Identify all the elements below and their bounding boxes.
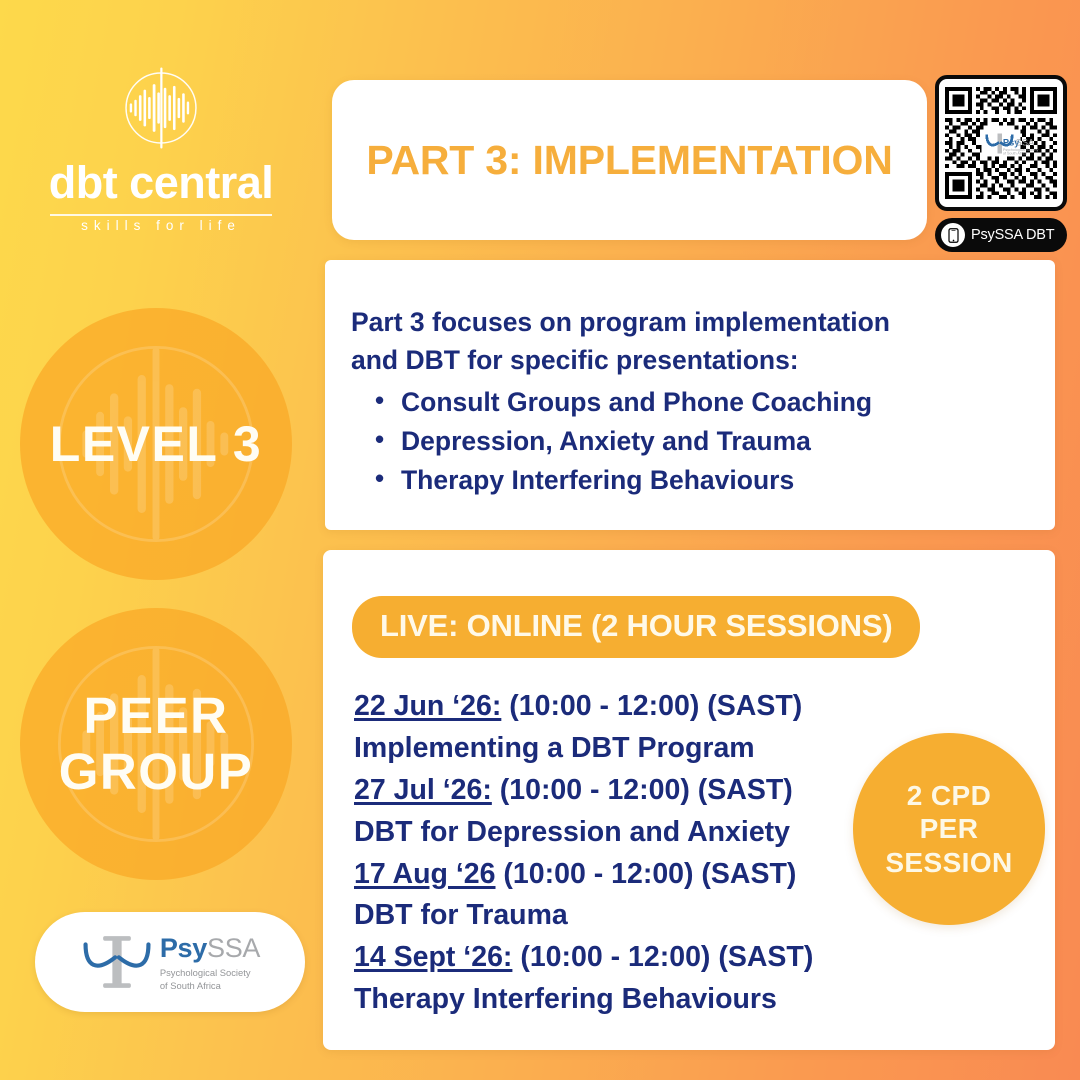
peer-group-badge-label: PEER GROUP (59, 688, 254, 800)
qr-pill-label: PsySSA DBT (971, 227, 1054, 243)
session-date: 17 Aug ‘26 (354, 858, 496, 890)
description-lead-line2: and DBT for specific presentations: (351, 342, 1027, 380)
level-badge: LEVEL 3 (20, 308, 292, 580)
cpd-badge: 2 CPD PER SESSION (853, 733, 1045, 925)
session-date-row: 14 Sept ‘26: (10:00 - 12:00) (SAST) (354, 937, 1055, 979)
title-card: PART 3: IMPLEMENTATION (332, 80, 927, 240)
waveform-circle-icon (115, 62, 207, 154)
session-date: 22 Jun ‘26: (354, 690, 501, 722)
list-item: Therapy Interfering Behaviours (351, 461, 1027, 500)
peer-line-1: PEER (84, 687, 229, 744)
cpd-line-3: SESSION (885, 847, 1012, 878)
psyssa-tagline: Psychological Society of South Africa (160, 967, 260, 992)
cpd-line-1: 2 CPD (907, 780, 991, 811)
brand-tagline: skills for life (18, 218, 304, 233)
session-time: (10:00 - 12:00) (SAST) (492, 774, 793, 806)
description-lead: Part 3 focuses on program implementation (351, 304, 1027, 342)
session-time: (10:00 - 12:00) (SAST) (512, 941, 813, 973)
session-date: 27 Jul ‘26: (354, 774, 492, 806)
description-bullet-list: Consult Groups and Phone Coaching Depres… (351, 383, 1027, 499)
description-lead-line1: Part 3 focuses on program implementation (351, 304, 1027, 342)
svg-text:of South Africa: of South Africa (1003, 152, 1028, 156)
description-lead-2: and DBT for specific presentations: (351, 342, 1027, 380)
description-card: Part 3 focuses on program implementation… (325, 260, 1055, 530)
qr-app-label-pill[interactable]: PsySSA DBT (935, 218, 1067, 252)
svg-text:SSA: SSA (1016, 137, 1035, 147)
list-item: Consult Groups and Phone Coaching (351, 383, 1027, 422)
cpd-line-2: PER (920, 813, 979, 844)
list-item: Depression, Anxiety and Trauma (351, 422, 1027, 461)
brand-divider (50, 214, 272, 216)
brand-logo: dbt central skills for life (18, 62, 304, 232)
peer-line-2: GROUP (59, 743, 254, 800)
peer-group-badge: PEER GROUP (20, 608, 292, 880)
level-badge-label: LEVEL 3 (50, 418, 262, 471)
qr-code-frame[interactable]: Psy SSA Psychological Society of South A… (935, 75, 1067, 211)
psyssa-name-bold: Psy (160, 933, 207, 963)
session-date: 14 Sept ‘26: (354, 941, 512, 973)
session-date-row: 22 Jun ‘26: (10:00 - 12:00) (SAST) (354, 686, 1055, 728)
session-time: (10:00 - 12:00) (SAST) (501, 690, 802, 722)
cpd-badge-label: 2 CPD PER SESSION (885, 779, 1012, 878)
mobile-phone-icon (941, 223, 965, 247)
qr-block[interactable]: Psy SSA Psychological Society of South A… (935, 75, 1067, 255)
psyssa-tagline-line2: of South Africa (160, 980, 221, 991)
qr-code-icon[interactable]: Psy SSA Psychological Society of South A… (945, 87, 1057, 199)
session-topic: Therapy Interfering Behaviours (354, 979, 1055, 1021)
psyssa-name-light: SSA (207, 933, 260, 963)
page-title: PART 3: IMPLEMENTATION (366, 137, 892, 184)
left-sidebar: dbt central skills for life LEVEL 3 (0, 0, 322, 1080)
psi-symbol-icon (80, 929, 154, 995)
psyssa-tagline-line1: Psychological Society (160, 967, 251, 978)
psyssa-logo-card: PsySSA Psychological Society of South Af… (35, 912, 305, 1012)
session-time: (10:00 - 12:00) (SAST) (496, 858, 797, 890)
live-format-badge: LIVE: ONLINE (2 HOUR SESSIONS) (352, 596, 920, 658)
brand-name: dbt central (18, 160, 304, 205)
psyssa-wordmark: PsySSA (160, 935, 260, 962)
